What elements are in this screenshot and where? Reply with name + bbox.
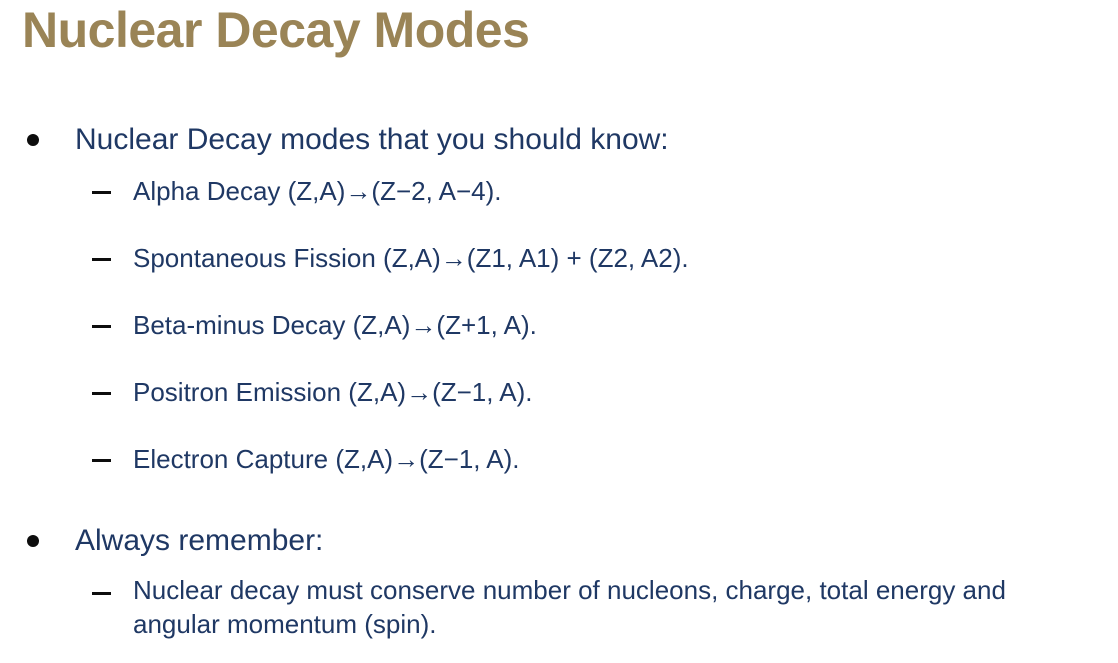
dash-icon (92, 459, 111, 462)
list-item-label: Spontaneous Fission (Z,A)→(Z1, A1) + (Z2… (133, 243, 689, 273)
list-item: Alpha Decay (Z,A)→(Z−2, A−4). (0, 172, 1118, 210)
list-item-label: Electron Capture (Z,A)→(Z−1, A). (133, 444, 520, 474)
bullet-dot-icon (27, 134, 39, 146)
list-item-label: Beta-minus Decay (Z,A)→(Z+1, A). (133, 310, 537, 340)
slide-canvas: Nuclear Decay Modes Nuclear Decay modes … (0, 0, 1118, 663)
list-item: Electron Capture (Z,A)→(Z−1, A). (0, 440, 1118, 478)
dash-icon (92, 592, 111, 595)
list-item: Spontaneous Fission (Z,A)→(Z1, A1) + (Z2… (0, 239, 1118, 277)
bullet-dot-icon (27, 535, 39, 547)
list-item: Positron Emission (Z,A)→(Z−1, A). (0, 373, 1118, 411)
list-item: Beta-minus Decay (Z,A)→(Z+1, A). (0, 306, 1118, 344)
page-title: Nuclear Decay Modes (22, 2, 529, 58)
list-item-label: Nuclear Decay modes that you should know… (75, 123, 669, 156)
dash-icon (92, 258, 111, 261)
list-item-label: Alpha Decay (Z,A)→(Z−2, A−4). (133, 176, 501, 206)
list-item: Always remember: (0, 519, 1118, 563)
list-item: Nuclear Decay modes that you should know… (0, 118, 1118, 162)
list-item: Nuclear decay must conserve number of nu… (0, 573, 1118, 641)
bullet-list: Nuclear Decay modes that you should know… (0, 118, 1118, 641)
dash-icon (92, 392, 111, 395)
dash-icon (92, 325, 111, 328)
dash-icon (92, 191, 111, 194)
list-item-label: Nuclear decay must conserve number of nu… (133, 575, 1006, 639)
list-item-label: Always remember: (75, 524, 323, 557)
section-spacer (0, 507, 1118, 519)
list-item-label: Positron Emission (Z,A)→(Z−1, A). (133, 377, 532, 407)
